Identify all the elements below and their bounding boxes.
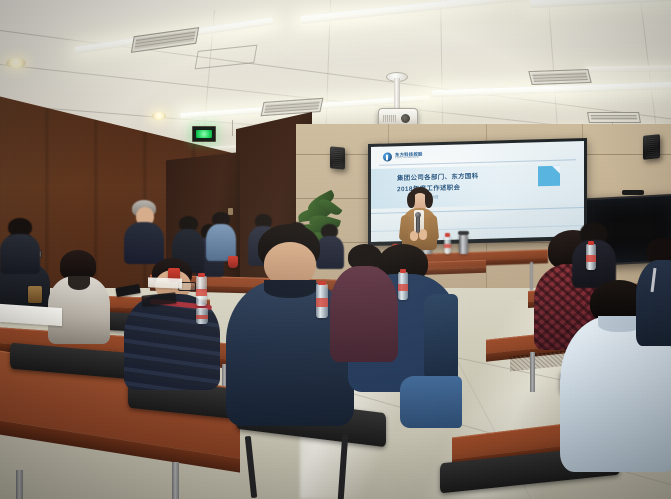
meeting-room-photo: 东方科技控股 CNIC HOLDINGS 集团公司各部门、东方国科 2018年度… — [0, 0, 671, 499]
desk-foreground-leg — [16, 470, 23, 499]
attendee-blue-jacket-jeans — [400, 376, 462, 428]
hvac-vent-4 — [587, 112, 641, 123]
attendee-far-right — [636, 238, 671, 344]
recessed-downlight-2 — [152, 112, 166, 120]
recessed-downlight-1 — [6, 58, 26, 68]
projector-lens — [401, 114, 410, 123]
projector-mount-pole — [394, 78, 400, 112]
attendee-blue-jacket-sleeve — [424, 294, 458, 384]
wall-speaker-right — [643, 134, 660, 160]
attendee-maroon — [330, 244, 398, 364]
company-logo-icon — [383, 152, 392, 161]
notepad-center[interactable] — [148, 277, 182, 288]
desk-right-mid-leg — [530, 352, 535, 392]
projector-vent — [383, 115, 396, 122]
water-bottle-2[interactable] — [316, 284, 328, 318]
attendee-mid-left-far — [0, 218, 40, 272]
presenter-table-leg-2 — [530, 262, 533, 290]
water-bottle-4[interactable] — [586, 244, 596, 270]
exit-sign — [192, 126, 216, 142]
microphone-head — [415, 212, 421, 218]
desk-foreground-leg-2 — [172, 462, 179, 499]
water-bottle-3[interactable] — [398, 272, 408, 300]
water-bottle-5[interactable] — [196, 308, 208, 324]
wall-speaker-left — [330, 146, 345, 169]
slide-logo: 东方科技控股 CNIC HOLDINGS — [383, 152, 423, 162]
presenter-hand-right — [419, 229, 427, 240]
thermos-flask-2 — [459, 234, 468, 254]
presenter-hair-side-2 — [425, 192, 433, 208]
presenter-sleeve-right — [428, 215, 440, 242]
slide-logo-en: CNIC HOLDINGS — [395, 157, 423, 160]
presenter-hair-side — [407, 192, 415, 208]
wall-display-stand — [622, 190, 644, 195]
tea-tumbler[interactable] — [28, 286, 42, 303]
attendee-grey-hair — [124, 200, 164, 262]
exit-sign-glyph — [196, 130, 211, 139]
hvac-vent-3 — [528, 69, 591, 85]
attendee-woman-left-collar — [68, 276, 90, 290]
attendee-foreground-navy-collar — [264, 280, 316, 298]
red-cup-3[interactable] — [228, 256, 238, 268]
water-bottle-1[interactable] — [196, 276, 207, 306]
attendee-woman-left — [48, 250, 110, 342]
slide-document-icon — [538, 166, 560, 187]
ceiling-hanger-1 — [232, 120, 233, 136]
chair-foreground-left[interactable] — [10, 348, 132, 378]
